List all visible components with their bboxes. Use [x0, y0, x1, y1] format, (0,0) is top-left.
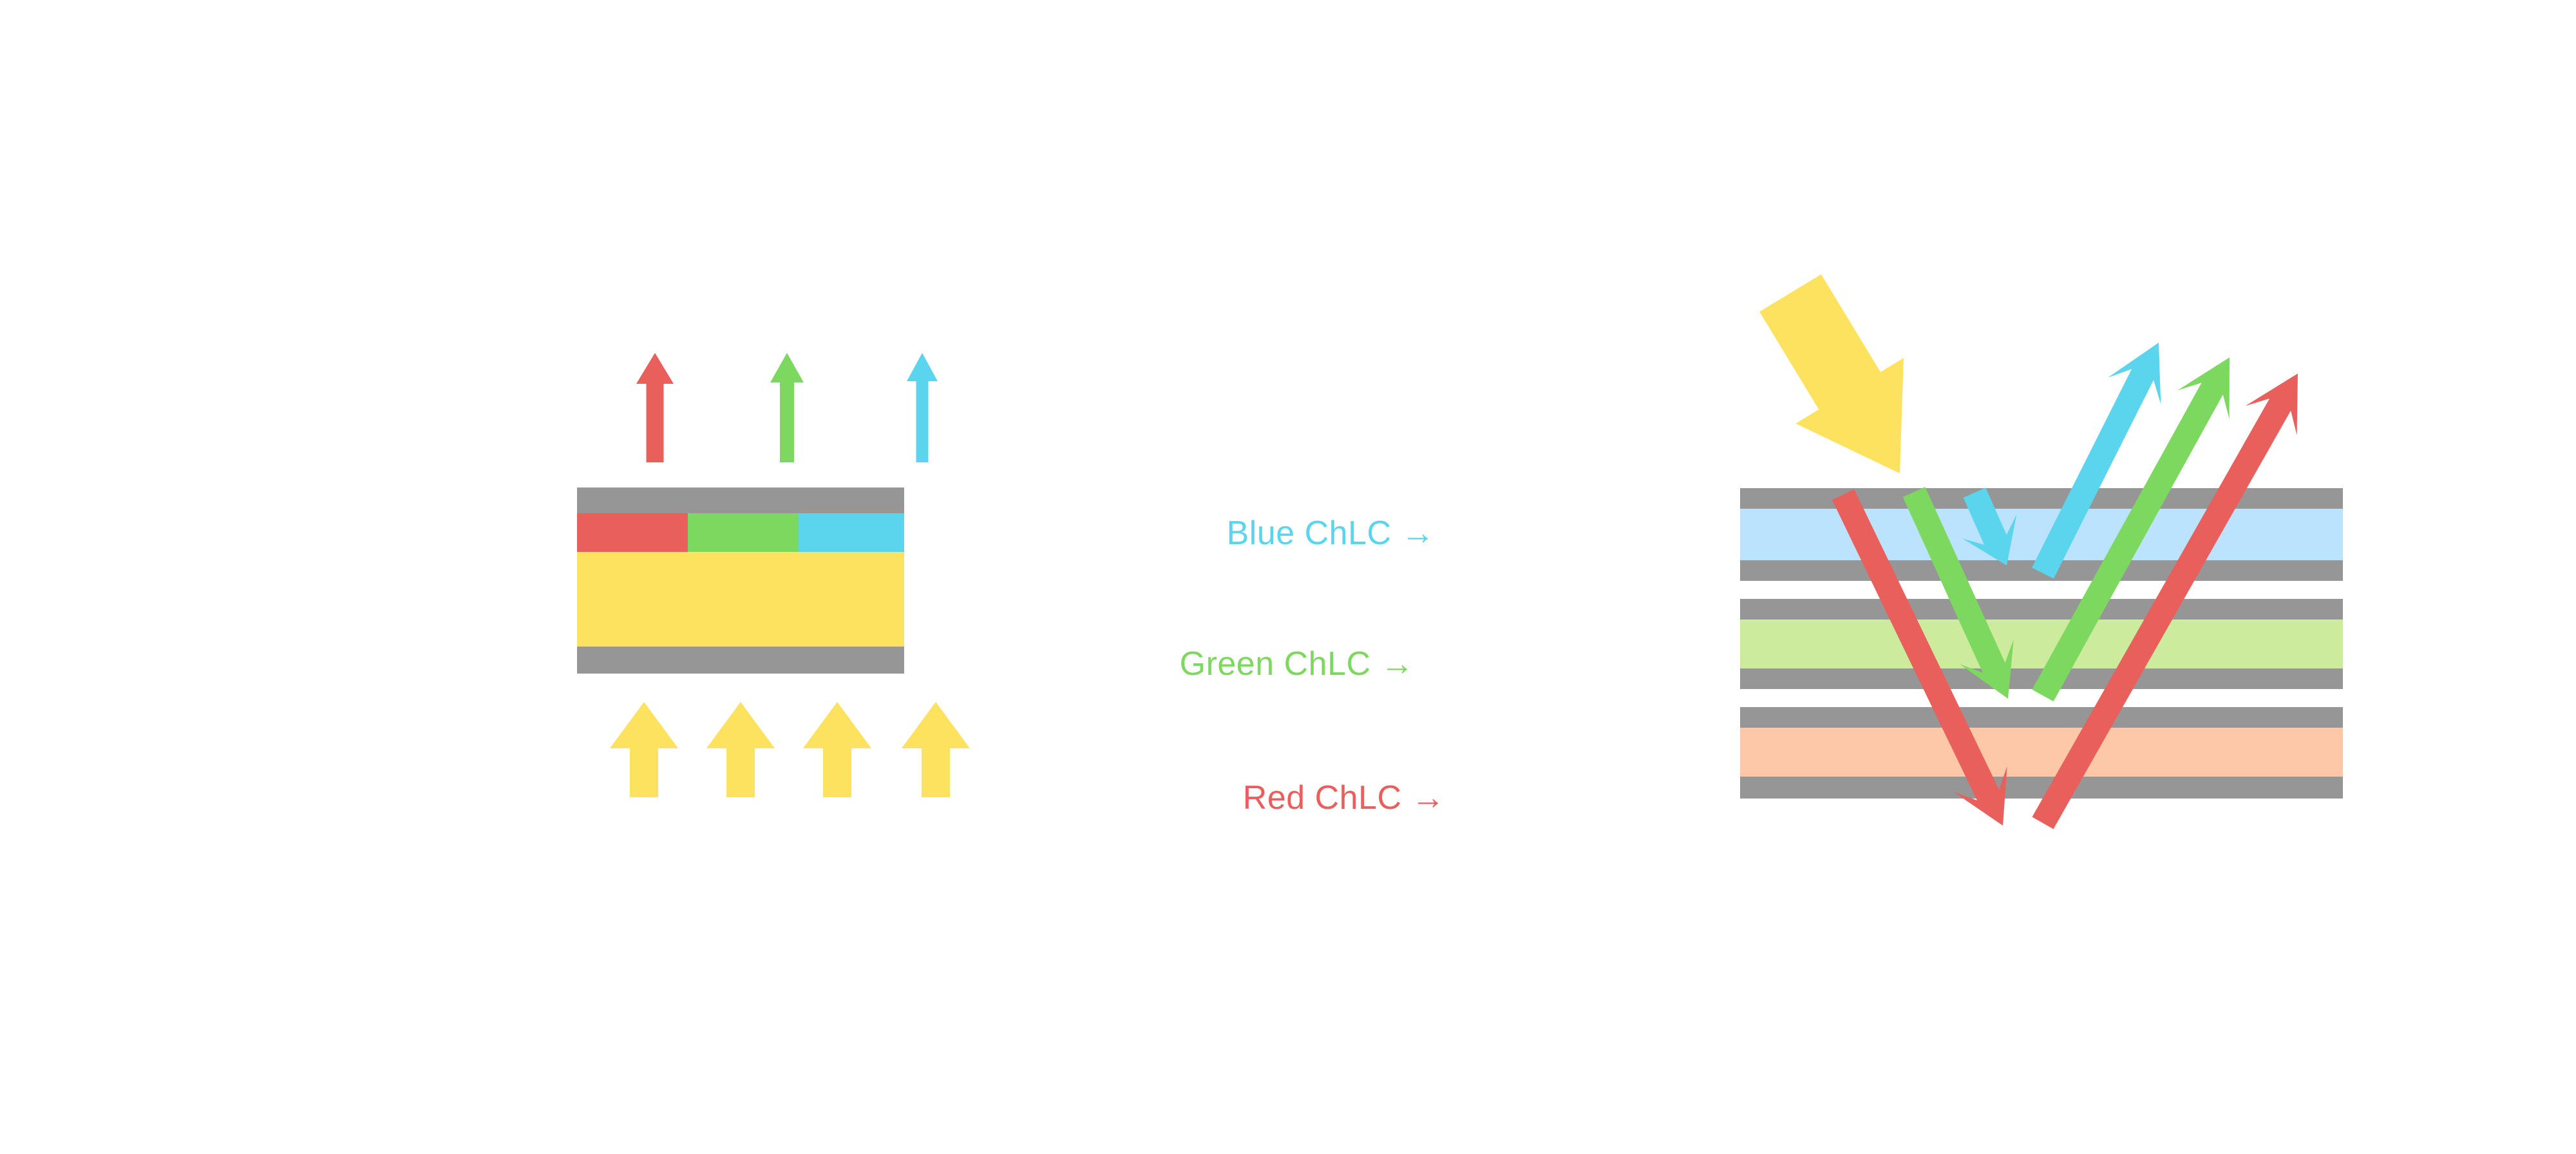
chlc-layer-stack — [1740, 488, 2343, 799]
red-emitted-arrow — [636, 353, 674, 462]
emissive-stack-diagram — [577, 353, 970, 797]
green-emitted-arrow — [770, 353, 804, 462]
green-chlc-cell-label: Green ChLC → — [1180, 645, 1414, 683]
top-gray-electrode — [577, 487, 904, 513]
yellow-backlight-arrow-2 — [706, 702, 775, 797]
red-filter-segment — [577, 513, 688, 552]
cyan-emitted-arrow — [907, 353, 938, 462]
yellow-ambient-light-arrow — [1759, 274, 1904, 473]
blue-chlc-cell-label: Blue ChLC → — [1227, 515, 1435, 552]
bottom-gray-electrode — [577, 647, 904, 674]
blue-cell-top-electrode — [1740, 488, 2343, 509]
green-cell-top-electrode — [1740, 599, 2343, 620]
yellow-backlight-arrow-1 — [610, 702, 678, 797]
backlight-arrow-group — [610, 702, 970, 797]
red-chlc-layer — [1740, 728, 2343, 777]
figure-canvas: Blue ChLC →Green ChLC →Red ChLC → — [0, 0, 2576, 1154]
emissive-layer-stack — [577, 487, 904, 674]
rgb-color-filter-row — [577, 513, 904, 552]
chlc-reflective-stack-diagram: Blue ChLC →Green ChLC →Red ChLC → — [1180, 274, 2343, 829]
emitted-light-arrow-group — [636, 353, 938, 462]
red-chlc-cell — [1740, 707, 2343, 799]
red-chlc-cell-label: Red ChLC → — [1243, 779, 1445, 817]
green-chlc-layer — [1740, 620, 2343, 668]
diagram-svg: Blue ChLC →Green ChLC →Red ChLC → — [0, 0, 2576, 1154]
green-filter-segment — [688, 513, 799, 552]
cyan-filter-segment — [799, 513, 904, 552]
yellow-backlight-layer — [577, 552, 904, 647]
red-cell-top-electrode — [1740, 707, 2343, 728]
red-cell-bottom-electrode — [1740, 777, 2343, 799]
ambient-light-arrow-group — [1759, 274, 1904, 473]
yellow-backlight-arrow-3 — [803, 702, 871, 797]
yellow-backlight-arrow-4 — [902, 702, 970, 797]
chlc-label-group: Blue ChLC →Green ChLC →Red ChLC → — [1180, 515, 1445, 817]
